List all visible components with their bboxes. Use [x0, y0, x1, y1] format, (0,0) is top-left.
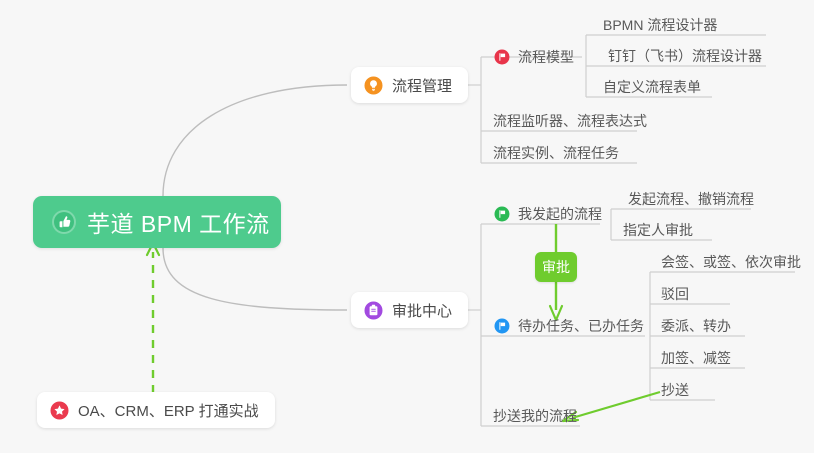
leaf-node-start-cancel[interactable]: 发起流程、撤销流程 — [626, 184, 756, 214]
leaf-label-start-cancel: 发起流程、撤销流程 — [628, 189, 754, 209]
leaf-label-cc: 抄送 — [661, 380, 689, 400]
arrow-note-to-root — [147, 243, 159, 393]
leaf-label-custom-form: 自定义流程表单 — [603, 77, 701, 97]
flag-green-icon — [494, 206, 510, 222]
leaf-node-process-instance[interactable]: 流程实例、流程任务 — [491, 138, 621, 168]
root-label: 芋道 BPM 工作流 — [87, 205, 270, 239]
leaf-node-countersign[interactable]: 会签、或签、依次审批 — [659, 247, 803, 277]
leaf-label-dingtalk-designer: 钉钉（飞书）流程设计器 — [608, 46, 762, 66]
lightbulb-icon — [364, 76, 383, 95]
edge-root-to-approval-center — [163, 248, 347, 310]
branch-node-approval-center[interactable]: 审批中心 — [351, 292, 468, 328]
mindmap-canvas: 芋道 BPM 工作流 OA、CRM、ERP 打通实战 流程管理 — [0, 0, 814, 453]
leaf-label-process-instance: 流程实例、流程任务 — [493, 143, 619, 163]
flag-red-icon — [494, 49, 510, 65]
branch-label-process-management: 流程管理 — [392, 75, 452, 96]
leaf-node-add-remove-sign[interactable]: 加签、减签 — [659, 343, 733, 373]
leaf-node-todo-done[interactable]: 待办任务、已办任务 — [492, 311, 646, 341]
leaf-node-dingtalk-designer[interactable]: 钉钉（飞书）流程设计器 — [606, 41, 764, 71]
approval-tag-label: 审批 — [542, 257, 570, 277]
bottom-note-node[interactable]: OA、CRM、ERP 打通实战 — [37, 392, 275, 428]
leaf-label-bpmn-designer: BPMN 流程设计器 — [603, 15, 717, 35]
leaf-label-cc-to-me: 抄送我的流程 — [493, 406, 577, 426]
bottom-note-label: OA、CRM、ERP 打通实战 — [78, 400, 259, 421]
leaf-label-reject: 驳回 — [661, 284, 689, 304]
leaf-label-process-listener: 流程监听器、流程表达式 — [493, 111, 647, 131]
leaf-node-custom-form[interactable]: 自定义流程表单 — [601, 72, 703, 102]
root-node[interactable]: 芋道 BPM 工作流 — [33, 196, 281, 248]
branch-node-process-management[interactable]: 流程管理 — [351, 67, 468, 103]
leaf-label-process-model: 流程模型 — [518, 47, 574, 67]
leaf-label-todo-done: 待办任务、已办任务 — [518, 316, 644, 336]
approval-tag[interactable]: 审批 — [535, 252, 577, 282]
star-icon — [50, 401, 69, 420]
clipboard-icon — [364, 301, 383, 320]
leaf-label-countersign: 会签、或签、依次审批 — [661, 252, 801, 272]
leaf-node-reject[interactable]: 驳回 — [659, 279, 691, 309]
leaf-label-add-remove-sign: 加签、减签 — [661, 348, 731, 368]
thumbs-up-icon — [51, 209, 77, 235]
leaf-node-assignee-approval[interactable]: 指定人审批 — [621, 215, 695, 245]
leaf-node-delegate[interactable]: 委派、转办 — [659, 311, 733, 341]
leaf-node-my-initiated[interactable]: 我发起的流程 — [492, 199, 604, 229]
leaf-node-process-listener[interactable]: 流程监听器、流程表达式 — [491, 106, 649, 136]
leaf-node-bpmn-designer[interactable]: BPMN 流程设计器 — [601, 10, 719, 40]
edge-root-to-process-management — [163, 85, 347, 196]
flag-blue-icon — [494, 318, 510, 334]
leaf-label-my-initiated: 我发起的流程 — [518, 204, 602, 224]
leaf-node-process-model[interactable]: 流程模型 — [492, 42, 576, 72]
leaf-label-assignee-approval: 指定人审批 — [623, 220, 693, 240]
branch-label-approval-center: 审批中心 — [392, 300, 452, 321]
leaf-label-delegate: 委派、转办 — [661, 316, 731, 336]
leaf-node-cc-to-me[interactable]: 抄送我的流程 — [491, 401, 579, 431]
leaf-node-cc[interactable]: 抄送 — [659, 375, 691, 405]
